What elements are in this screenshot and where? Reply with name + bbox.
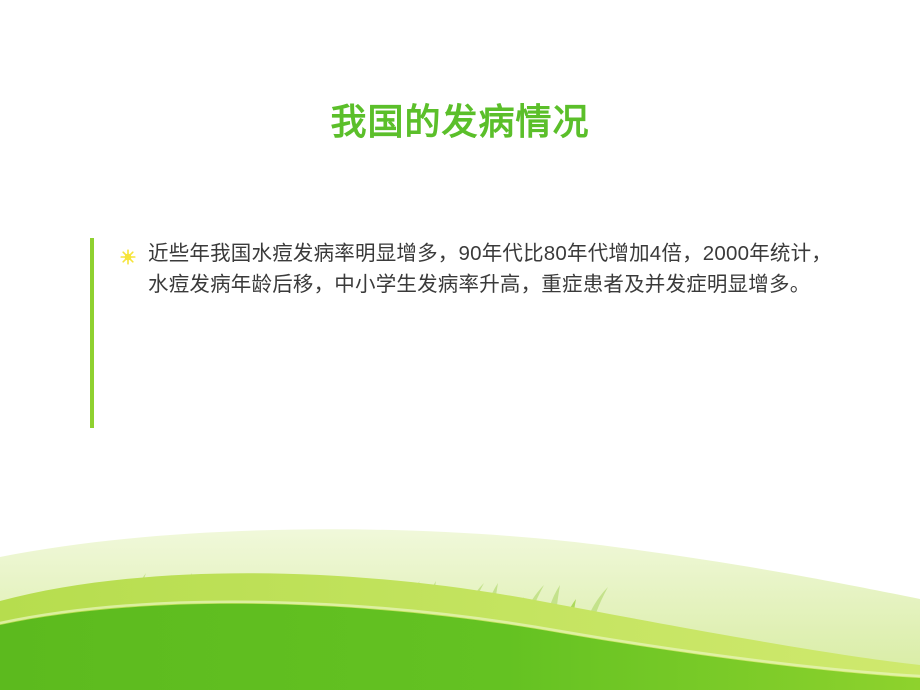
slide-title: 我国的发病情况 (0, 100, 920, 143)
bullet-list-item: 近些年我国水痘发病率明显增多，90年代比80年代增加4倍，2000年统计，水痘发… (120, 238, 846, 428)
grass-wave-footer (0, 515, 920, 690)
presentation-slide: 我国的发病情况 近些年我国水痘发病率明显增多，90年代比80年代增加4倍，200… (0, 0, 920, 690)
star-bullet-icon (120, 249, 136, 265)
bullet-text: 近些年我国水痘发病率明显增多，90年代比80年代增加4倍，2000年统计，水痘发… (148, 238, 846, 300)
left-accent-bar (90, 238, 94, 428)
slide-body: 近些年我国水痘发病率明显增多，90年代比80年代增加4倍，2000年统计，水痘发… (90, 238, 850, 428)
